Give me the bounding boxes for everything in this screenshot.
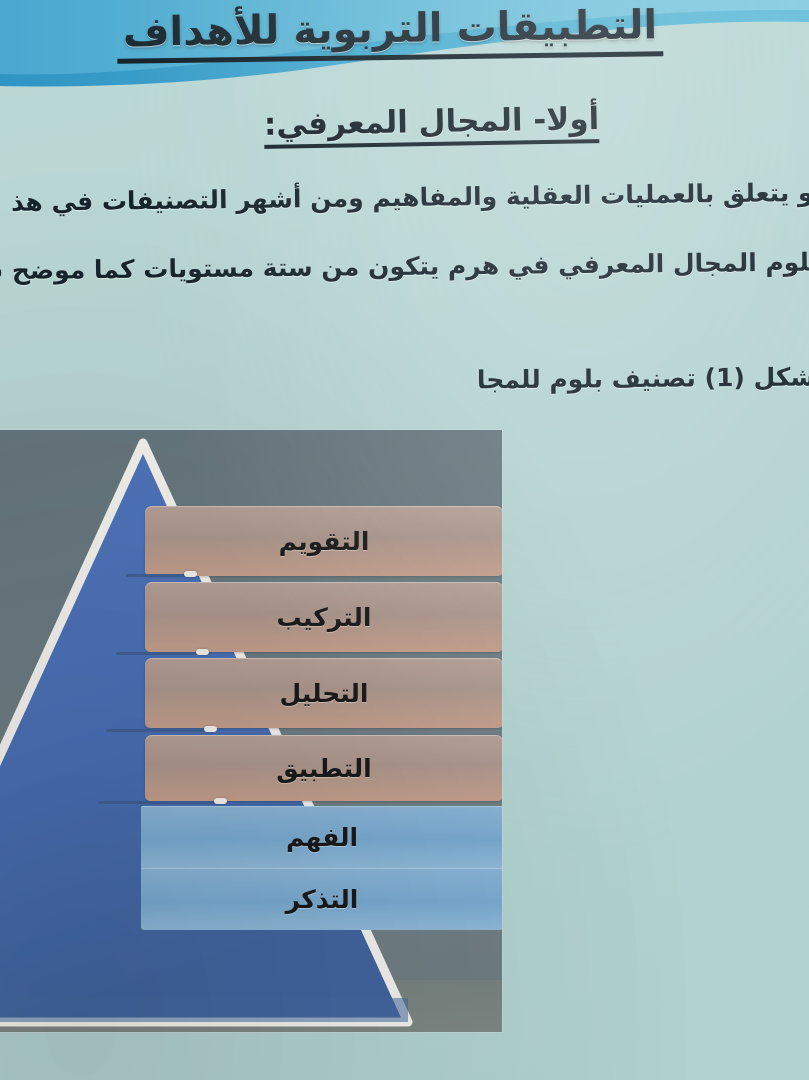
level-label-5: الفهم	[286, 823, 358, 852]
level-nub-2	[196, 649, 209, 655]
figure-slide-panel: التقويم التركيب التحليل التطبيق الفهم	[0, 430, 502, 1032]
taxonomy-levels: التقويم التركيب التحليل التطبيق الفهم	[0, 430, 502, 1032]
level-connector-2	[116, 652, 198, 655]
level-nub-3	[204, 726, 217, 732]
level-bar-2[interactable]: التركيب	[145, 582, 502, 652]
page-title: التطبيقات التربوية للأهداف	[117, 2, 664, 64]
level-connector-4	[98, 801, 216, 804]
level-bar-5[interactable]: الفهم	[141, 806, 502, 868]
level-bar-4[interactable]: التطبيق	[145, 735, 502, 801]
level-label-3: التحليل	[280, 679, 369, 708]
paragraph-line-2: بلوم المجال المعرفي في هرم يتكون من ستة …	[0, 247, 809, 285]
level-connector-1	[126, 574, 186, 577]
figure-caption: شكل (1) تصنيف بلوم للمجا	[0, 362, 809, 398]
section-heading: أولا- المجال المعرفي:	[263, 101, 599, 149]
level-bar-1[interactable]: التقويم	[145, 506, 502, 576]
page-title-container: التطبيقات التربوية للأهداف	[0, 6, 809, 76]
level-label-6: التذكر	[286, 885, 359, 914]
level-nub-4	[214, 798, 227, 804]
level-label-2: التركيب	[277, 603, 372, 632]
level-label-1: التقويم	[279, 527, 370, 556]
document-page: التطبيقات التربوية للأهداف أولا- المجال …	[0, 0, 809, 1080]
level-label-4: التطبيق	[276, 754, 371, 783]
section-heading-container: أولا- المجال المعرفي:	[264, 104, 599, 146]
paragraph-line-1: هو يتعلق بالعمليات العقلية والمفاهيم ومن…	[0, 178, 809, 218]
level-bar-3[interactable]: التحليل	[145, 658, 502, 728]
level-nub-1	[184, 571, 197, 577]
level-connector-3	[106, 729, 206, 732]
level-bar-6[interactable]: التذكر	[141, 868, 502, 930]
